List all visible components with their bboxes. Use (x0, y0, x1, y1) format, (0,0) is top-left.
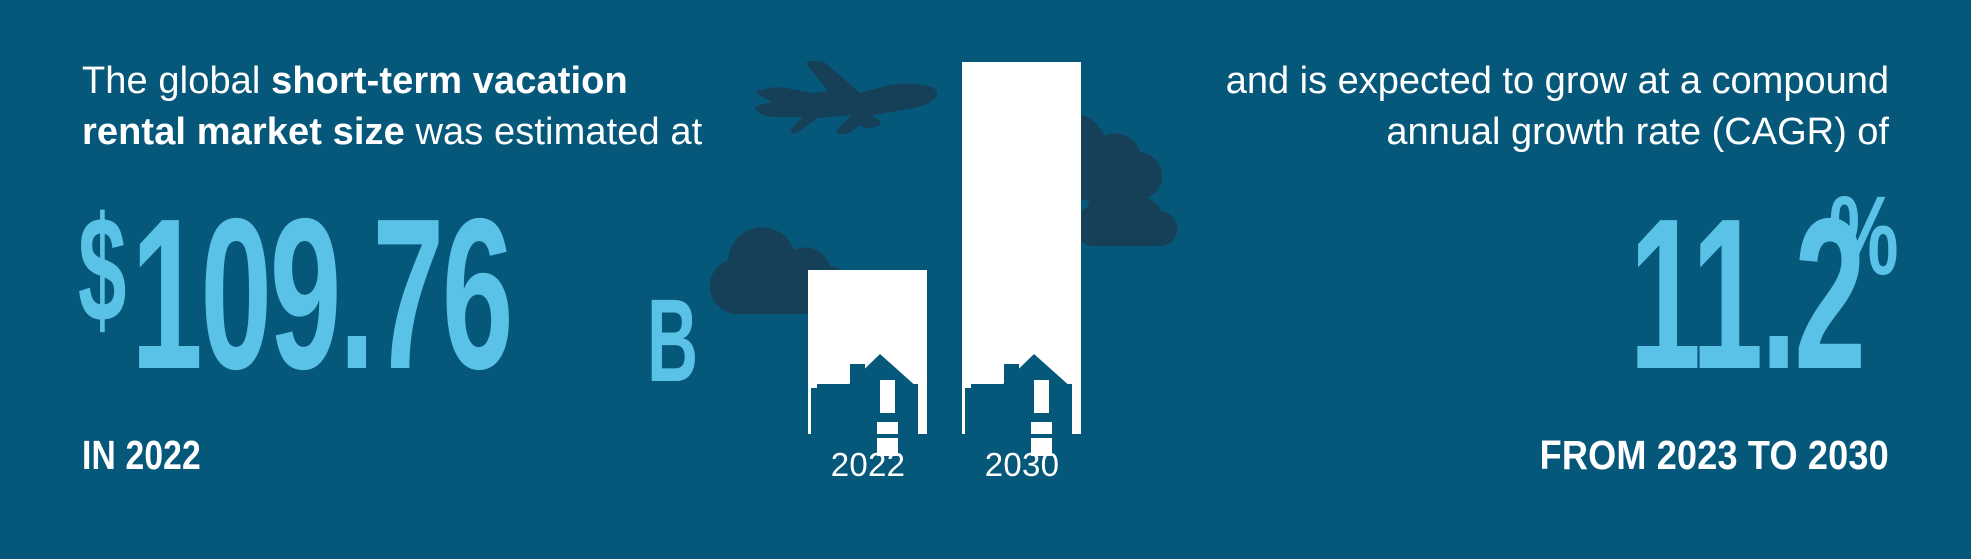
currency-symbol: $ (78, 194, 125, 344)
bar-chart-illustration: 2022 2030 (700, 0, 1260, 559)
infographic-canvas: The global short-term vacation rental ma… (0, 0, 1971, 559)
left-big-stat: $ 109.76 B (78, 186, 732, 401)
percent-sign: % (1829, 180, 1899, 292)
airplane-icon (755, 61, 937, 134)
bar-tick-label-2030: 2030 (962, 446, 1082, 484)
left-lede-prefix: The global (82, 60, 271, 102)
right-lede: and is expected to grow at a compound an… (1169, 56, 1889, 157)
bar-2030 (962, 62, 1081, 456)
left-stat-value: 109.76 (131, 186, 511, 401)
left-lede: The global short-term vacation rental ma… (82, 56, 722, 157)
right-caption: FROM 2023 TO 2030 (1540, 432, 1889, 479)
bar-tick-label-2022: 2022 (808, 446, 928, 484)
left-text-block: The global short-term vacation rental ma… (82, 56, 722, 157)
right-text-block: and is expected to grow at a compound an… (1169, 56, 1889, 157)
left-lede-suffix: was estimated at (405, 111, 702, 153)
left-caption: IN 2022 (82, 432, 201, 479)
right-big-stat: 11.2 % (1473, 186, 1899, 401)
house-window (880, 380, 895, 413)
left-stat-suffix: B (647, 282, 698, 400)
bar-2022 (808, 270, 927, 456)
house-window (1034, 380, 1049, 413)
